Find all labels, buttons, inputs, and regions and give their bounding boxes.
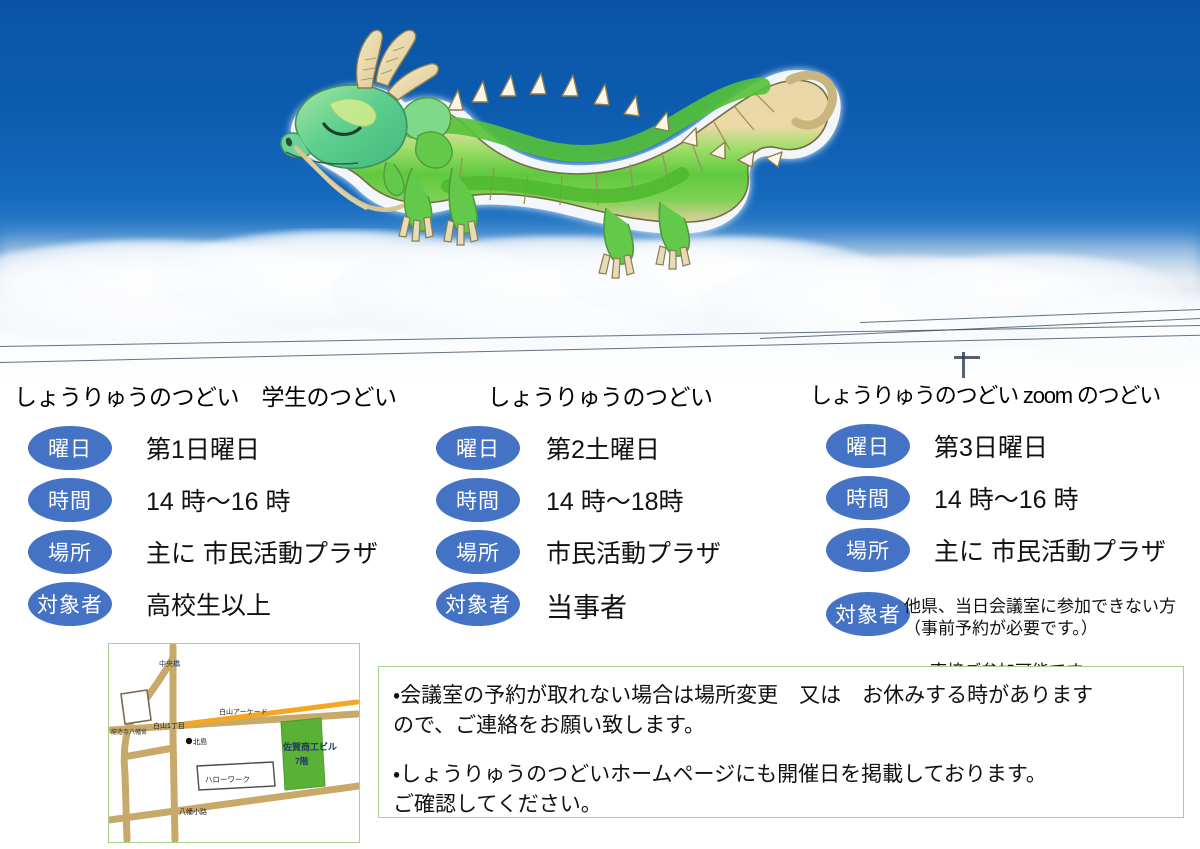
map-label-hakusan-arcade: 白山アーケード — [219, 707, 268, 716]
row-value: 第2土曜日 — [546, 430, 660, 466]
schedule-row: 時間 14 時〜16 時 — [0, 478, 400, 530]
row-value: 14 時〜16 時 — [146, 482, 291, 518]
row-label-badge: 時間 — [28, 478, 112, 522]
notes-box: ・会議室の予約が取れない場合は場所変更 又は お休みする時があります ので、ご連… — [378, 666, 1184, 818]
target-line-1: 他県、当日会議室に参加できない方 — [904, 597, 1176, 616]
map-label-chuo-bridge: 中央橋 — [159, 659, 180, 668]
column-rows: 曜日 第3日曜日 時間 14 時〜16 時 場所 主に 市民活動プラザ 対象者 — [800, 424, 1200, 632]
row-label-badge: 対象者 — [28, 582, 112, 626]
row-label-badge: 場所 — [826, 528, 910, 572]
schedule-row: 曜日 第3日曜日 — [800, 424, 1200, 476]
schedule-column-zoom: しょうりゅうのつどい zoom のつどい 曜日 第3日曜日 時間 14 時〜16… — [800, 378, 1200, 632]
hero-sky-photo — [0, 0, 1200, 378]
row-value: 高校生以上 — [146, 586, 271, 622]
row-label-badge: 曜日 — [826, 424, 910, 468]
map-label-kitajima: 北島 — [193, 737, 207, 746]
schedule-row: 対象者 高校生以上 — [0, 582, 400, 634]
schedule-row: 場所 市民活動プラザ — [400, 530, 800, 582]
schedule-row: 場所 主に 市民活動プラザ — [0, 530, 400, 582]
row-value: 当事者 — [546, 586, 627, 625]
schedule-row: 曜日 第1日曜日 — [0, 426, 400, 478]
schedule-row: 時間 14 時〜18時 — [400, 478, 800, 530]
row-label-badge: 曜日 — [28, 426, 112, 470]
column-rows: 曜日 第1日曜日 時間 14 時〜16 時 場所 主に 市民活動プラザ 対象者 … — [0, 426, 400, 634]
map-label-hakusan-1chome: 白山1丁目 — [153, 721, 185, 730]
dragon-illustration — [262, 18, 862, 280]
row-value: 14 時〜16 時 — [934, 480, 1079, 516]
row-value: 14 時〜18時 — [546, 482, 684, 518]
row-label-badge: 場所 — [436, 530, 520, 574]
row-label-badge: 時間 — [826, 476, 910, 520]
schedule-column-gakusei: しょうりゅうのつどい 学生のつどい 曜日 第1日曜日 時間 14 時〜16 時 … — [0, 378, 400, 634]
row-value: 第1日曜日 — [146, 430, 260, 466]
map-label-hachimangu: 龍造寺八幡宮 — [111, 728, 147, 736]
row-value: 第3日曜日 — [934, 428, 1048, 464]
column-rows: 曜日 第2土曜日 時間 14 時〜18時 場所 市民活動プラザ 対象者 当事者 — [400, 426, 800, 634]
access-map: 中央橋 龍造寺八幡宮 白山1丁目 白山アーケード 北島 ハローワーク 佐賀商工ビ… — [108, 643, 360, 843]
content-area: しょうりゅうのつどい 学生のつどい 曜日 第1日曜日 時間 14 時〜16 時 … — [0, 378, 1200, 849]
schedule-row: 対象者 他県、当日会議室に参加できない方 （事前予約が必要です。） 直接ご参加可… — [800, 580, 1200, 632]
column-title: しょうりゅうのつどい zoom のつどい — [800, 378, 1200, 410]
poster-page: しょうりゅうのつどい 学生のつどい 曜日 第1日曜日 時間 14 時〜16 時 … — [0, 0, 1200, 849]
target-line-2: （事前予約が必要です。） — [904, 618, 1176, 640]
map-label-hellowork: ハローワーク — [205, 775, 250, 784]
row-label-badge: 時間 — [436, 478, 520, 522]
row-value: 市民活動プラザ — [546, 534, 721, 570]
row-value: 主に 市民活動プラザ — [146, 534, 378, 570]
schedule-row: 場所 主に 市民活動プラザ — [800, 528, 1200, 580]
map-label-building-floor: 7階 — [295, 756, 309, 766]
cloud-wisp — [60, 264, 260, 300]
note-item: ・会議室の予約が取れない場合は場所変更 又は お休みする時があります ので、ご連… — [393, 681, 1167, 742]
row-label-badge: 曜日 — [436, 426, 520, 470]
row-label-badge: 対象者 — [826, 592, 910, 636]
row-value: 主に 市民活動プラザ — [934, 532, 1166, 568]
utility-pole-arm — [954, 356, 980, 359]
map-label-yawata-koji: 八幡小路 — [179, 807, 207, 816]
schedule-column-honkai: しょうりゅうのつどい 曜日 第2土曜日 時間 14 時〜18時 場所 市民活動プ… — [400, 378, 800, 634]
schedule-row: 時間 14 時〜16 時 — [800, 476, 1200, 528]
map-label-building: 佐賀商工ビル — [282, 741, 337, 752]
row-label-badge: 対象者 — [436, 582, 520, 626]
column-title: しょうりゅうのつどい — [400, 378, 800, 412]
schedule-row: 曜日 第2土曜日 — [400, 426, 800, 478]
note-item: ・しょうりゅうのつどいホームページにも開催日を掲載しております。 ご確認してくだ… — [393, 760, 1167, 821]
row-label-badge: 場所 — [28, 530, 112, 574]
schedule-row: 対象者 当事者 — [400, 582, 800, 634]
schedule-columns: しょうりゅうのつどい 学生のつどい 曜日 第1日曜日 時間 14 時〜16 時 … — [0, 378, 1200, 628]
column-title: しょうりゅうのつどい 学生のつどい — [0, 378, 400, 412]
